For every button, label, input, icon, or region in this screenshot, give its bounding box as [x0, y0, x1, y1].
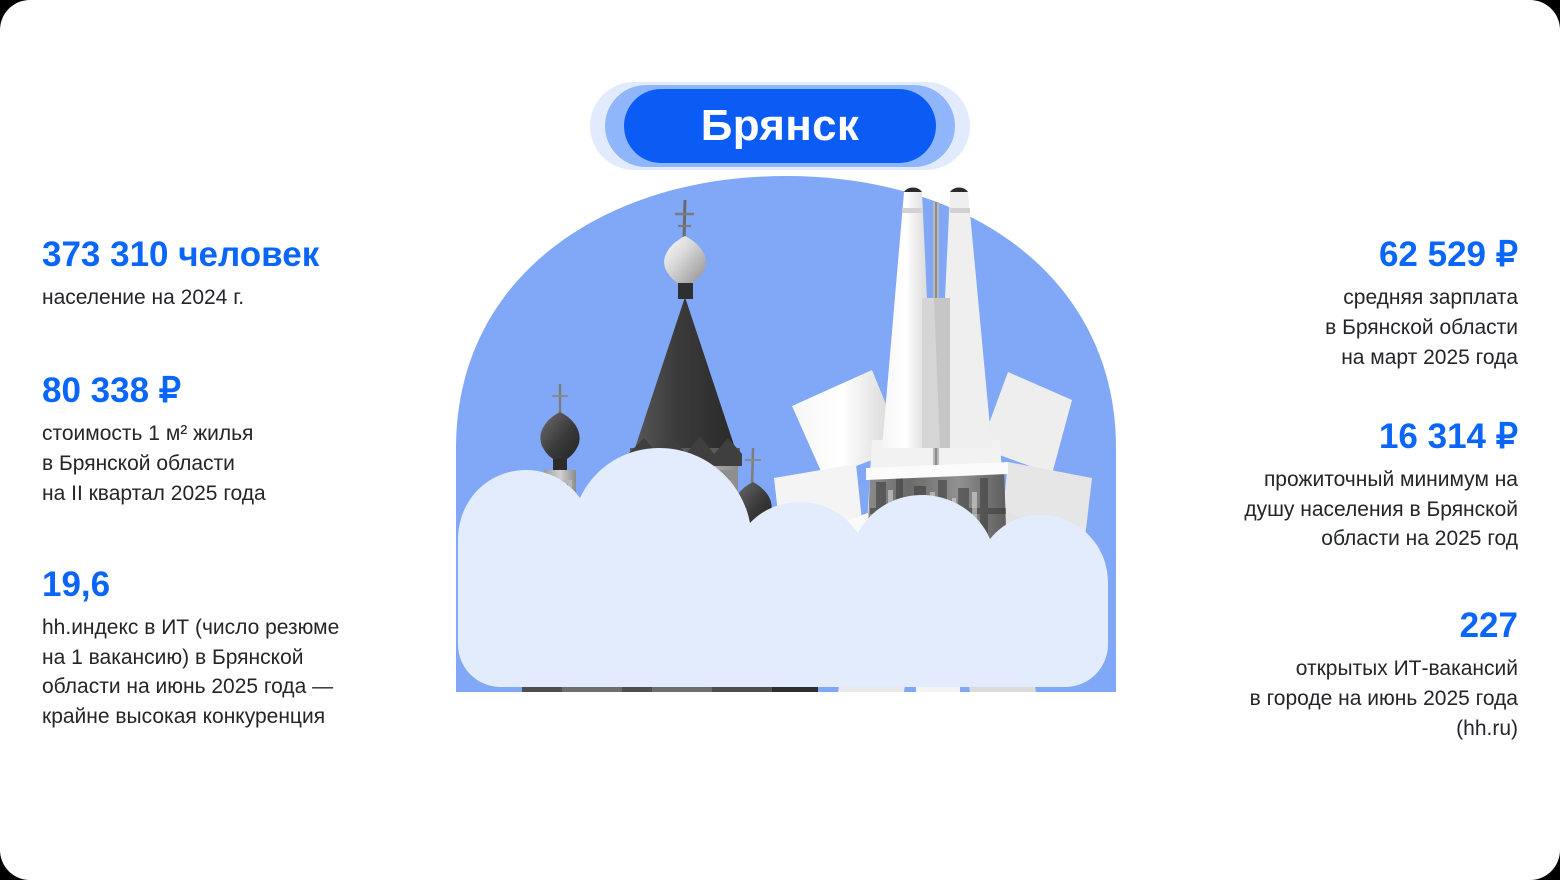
stats-column-left: 373 310 человек население на 2024 г. 80 …: [42, 235, 462, 732]
stats-column-right: 62 529 ₽ средняя зарплата в Брянской обл…: [1098, 235, 1518, 744]
stat-population: 373 310 человек население на 2024 г.: [42, 235, 462, 313]
stat-it-vacancies: 227 открытых ИТ-вакансий в городе на июн…: [1098, 606, 1518, 744]
stat-subsistence-minimum: 16 314 ₽ прожиточный минимум на душу нас…: [1098, 417, 1518, 555]
stat-average-salary: 62 529 ₽ средняя зарплата в Брянской обл…: [1098, 235, 1518, 373]
stat-hh-index: 19,6 hh.индекс в ИТ (число резюме на 1 в…: [42, 565, 462, 732]
stat-value: 16 314 ₽: [1098, 417, 1518, 456]
stat-label: население на 2024 г.: [42, 283, 462, 313]
infographic-card: Брянск: [0, 0, 1560, 880]
stat-label: открытых ИТ-вакансий в городе на июнь 20…: [1098, 654, 1518, 743]
stat-value: 373 310 человек: [42, 235, 462, 274]
stat-label: стоимость 1 м² жилья в Брянской области …: [42, 419, 462, 508]
stat-value: 62 529 ₽: [1098, 235, 1518, 274]
stat-value: 80 338 ₽: [42, 371, 462, 410]
stat-label: средняя зарплата в Брянской области на м…: [1098, 283, 1518, 372]
city-illustration: [452, 148, 1120, 692]
stat-label: прожиточный минимум на душу населения в …: [1098, 465, 1518, 554]
stat-label: hh.индекс в ИТ (число резюме на 1 ваканс…: [42, 613, 462, 732]
city-name-label: Брянск: [701, 104, 859, 148]
stat-value: 19,6: [42, 565, 462, 604]
stat-value: 227: [1098, 606, 1518, 645]
stat-housing-price: 80 338 ₽ стоимость 1 м² жилья в Брянской…: [42, 371, 462, 509]
